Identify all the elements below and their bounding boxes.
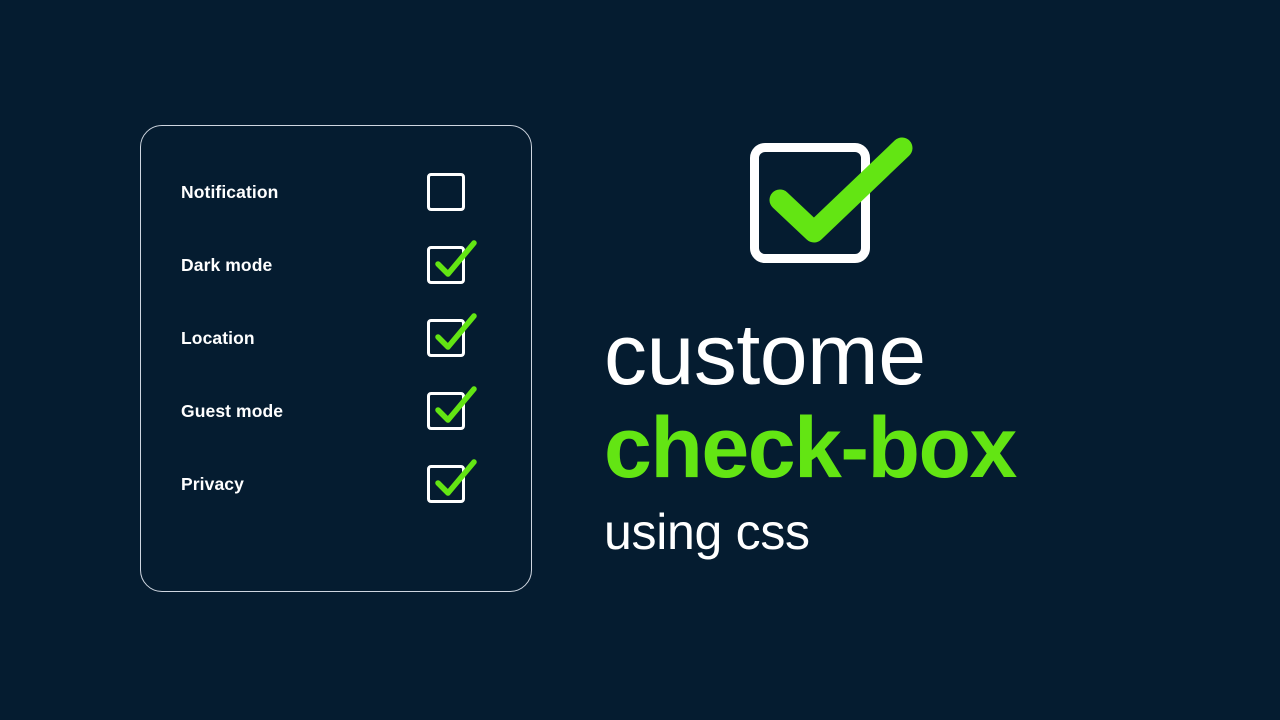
setting-label: Location <box>181 328 255 349</box>
checkbox-guest-mode[interactable] <box>427 388 479 434</box>
checkbox-notification[interactable] <box>427 169 479 215</box>
hero-section: custome check-box using css <box>604 130 1244 562</box>
setting-row-location[interactable]: Location <box>181 315 479 361</box>
setting-label: Guest mode <box>181 401 283 422</box>
setting-label: Privacy <box>181 474 244 495</box>
checkbox-privacy[interactable] <box>427 461 479 507</box>
checkbox-location[interactable] <box>427 315 479 361</box>
setting-label: Dark mode <box>181 255 272 276</box>
checkbox-box <box>427 392 465 430</box>
checkbox-box <box>427 465 465 503</box>
setting-row-guest-mode[interactable]: Guest mode <box>181 388 479 434</box>
hero-title-line2: check-box <box>604 400 1244 496</box>
settings-card: Notification Dark mode Loc <box>140 125 532 592</box>
setting-label: Notification <box>181 182 278 203</box>
page-root: Notification Dark mode Loc <box>0 0 1280 720</box>
hero-text: custome check-box using css <box>604 312 1244 562</box>
setting-row-privacy[interactable]: Privacy <box>181 461 479 507</box>
checkbox-box <box>427 173 465 211</box>
setting-row-dark-mode[interactable]: Dark mode <box>181 242 479 288</box>
checkbox-box <box>427 246 465 284</box>
hero-subtitle: using css <box>604 502 1244 562</box>
hero-title-line1: custome <box>604 312 1244 400</box>
large-check-icon <box>750 130 920 270</box>
checkbox-dark-mode[interactable] <box>427 242 479 288</box>
setting-row-notification[interactable]: Notification <box>181 169 479 215</box>
settings-list: Notification Dark mode Loc <box>181 169 479 507</box>
checkbox-box <box>427 319 465 357</box>
large-checkbox-checked-icon <box>750 130 920 270</box>
